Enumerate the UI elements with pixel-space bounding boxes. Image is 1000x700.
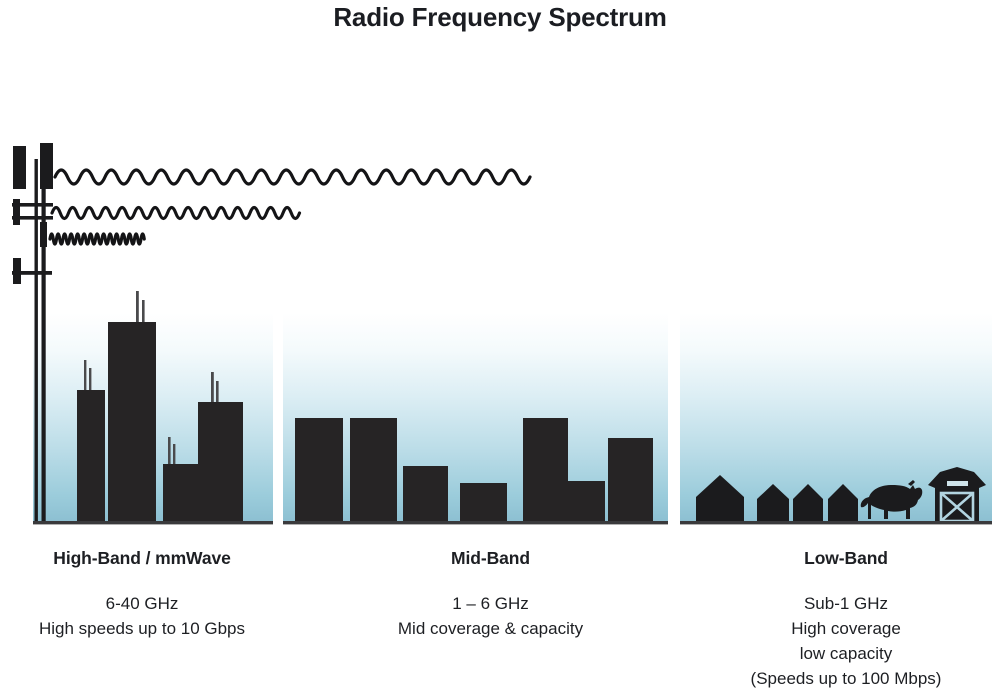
wave-mid-band: [52, 208, 300, 219]
barn-hayloft-window: [947, 481, 968, 486]
caption-low-band-capacity: low capacity: [700, 641, 992, 666]
building-mid-1: [295, 418, 343, 521]
caption-mid-band-frequency: 1 – 6 GHz: [348, 591, 633, 616]
caption-high-band-frequency: 6-40 GHz: [2, 591, 282, 616]
tower-mast-left: [35, 159, 38, 521]
ground-line-high-band: [33, 521, 273, 524]
caption-low-band: Low-Band Sub-1 GHz High coverage low cap…: [700, 548, 992, 691]
building-high-2: [108, 322, 156, 521]
caption-low-band-heading: Low-Band: [700, 548, 992, 569]
wave-low-band: [55, 170, 530, 184]
building-mid-3: [403, 466, 448, 521]
caption-mid-band-speed: Mid coverage & capacity: [348, 616, 633, 641]
caption-high-band: High-Band / mmWave 6-40 GHz High speeds …: [2, 548, 282, 641]
building-high-4: [198, 402, 243, 521]
tower-antenna-panel-5: [13, 258, 21, 284]
building-mid-6: [568, 481, 605, 521]
caption-low-band-coverage: High coverage: [700, 616, 992, 641]
radio-waves: [50, 170, 530, 244]
wave-high-band: [50, 234, 144, 244]
tower-antenna-panel-3: [13, 199, 20, 225]
ground-lines: [33, 521, 992, 524]
building-mid-7: [608, 438, 653, 521]
ground-line-low-band: [680, 521, 992, 524]
tower-antenna-panel-2: [40, 143, 53, 189]
caption-high-band-speed: High speeds up to 10 Gbps: [2, 616, 282, 641]
tower-antenna-panel-1: [13, 146, 26, 189]
building-high-3: [163, 464, 204, 521]
infographic-canvas: Radio Frequency Spectrum: [0, 0, 1000, 700]
caption-mid-band-heading: Mid-Band: [348, 548, 633, 569]
tower-antenna-panel-4: [40, 222, 47, 247]
caption-low-band-frequency: Sub-1 GHz: [700, 591, 992, 616]
caption-low-band-speed: (Speeds up to 100 Mbps): [700, 666, 992, 691]
building-mid-5: [523, 418, 568, 521]
building-mid-2: [350, 418, 397, 521]
building-high-1: [77, 390, 105, 521]
caption-mid-band: Mid-Band 1 – 6 GHz Mid coverage & capaci…: [348, 548, 633, 641]
building-mid-4: [460, 483, 507, 521]
caption-high-band-heading: High-Band / mmWave: [2, 548, 282, 569]
spectrum-illustration: [0, 0, 1000, 560]
ground-line-mid-band: [283, 521, 668, 524]
